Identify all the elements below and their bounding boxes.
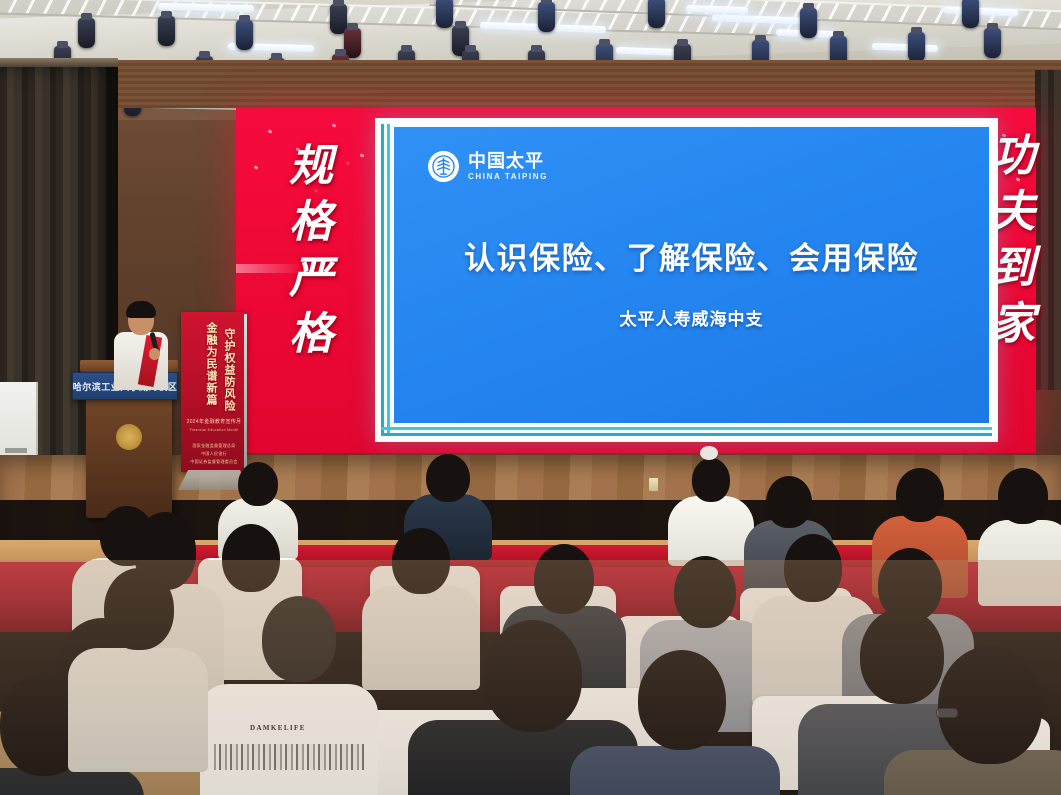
head (896, 468, 944, 522)
head (534, 544, 594, 614)
rollup-sub-2: Financial Education Month (181, 428, 247, 432)
slide-teal-stripe (381, 433, 992, 436)
slide-teal-stripe (381, 124, 384, 436)
head (860, 608, 944, 704)
head (392, 528, 450, 594)
brand-name-cn: 中国太平 (468, 152, 548, 170)
torso (570, 746, 780, 795)
rollup-sub-1: 2024年金融教育宣传月 (181, 418, 247, 425)
torso (668, 496, 754, 566)
audience: DAMKELIFE (0, 440, 1061, 795)
stage-spotlight-icon (158, 16, 175, 46)
head (784, 534, 842, 602)
stage-spotlight-icon (78, 18, 95, 48)
brand-wordmark: 中国太平 CHINA TAIPING (468, 152, 548, 181)
slide-teal-stripe (387, 124, 390, 436)
wall-wood-panel (0, 60, 1061, 108)
head (222, 524, 280, 592)
tshirt-graphic-band (214, 744, 364, 770)
curtain-rod (0, 58, 118, 67)
head (766, 476, 812, 528)
head (426, 454, 470, 502)
slide-teal-stripe (381, 427, 992, 430)
eyeglasses-icon (936, 708, 958, 718)
presentation-slide: 中国太平 CHINA TAIPING 认识保险、了解保险、会用保险 太平人寿威海… (375, 118, 998, 442)
stage-spotlight-icon (962, 0, 979, 28)
torso (978, 520, 1061, 606)
rollup-line-right: 守护权益防风险 (221, 328, 237, 412)
head (484, 620, 582, 732)
head (998, 468, 1048, 524)
head (674, 556, 736, 628)
stage-spotlight-icon (984, 28, 1001, 58)
auditorium-photo: 规格严格 功夫到家 (0, 0, 1061, 795)
stage-spotlight-icon (236, 20, 253, 50)
brand-name-en: CHINA TAIPING (468, 173, 548, 181)
china-taiping-logo: 中国太平 CHINA TAIPING (428, 151, 548, 182)
torso (68, 648, 208, 772)
rollup-line-left: 金融为民谱新篇 (203, 322, 219, 406)
slide-subtitle: 太平人寿威海中支 (394, 305, 989, 330)
torso (362, 586, 480, 690)
head (692, 458, 730, 502)
tshirt-graphic-text: DAMKELIFE (250, 724, 306, 732)
backdrop-motto-left: 规格严格 (274, 142, 338, 366)
head (638, 650, 726, 750)
speaker-presenter (112, 304, 170, 386)
fluorescent-tube-icon (872, 43, 938, 53)
slide-title: 认识保险、了解保险、会用保险 (394, 233, 989, 278)
head (238, 462, 278, 506)
stage-spotlight-icon (538, 2, 555, 32)
stage-spotlight-icon (436, 0, 453, 28)
stage-spotlight-icon (648, 0, 665, 28)
head (262, 596, 336, 682)
stage-spotlight-icon (908, 32, 925, 62)
head (938, 646, 1042, 764)
slide-content: 中国太平 CHINA TAIPING 认识保险、了解保险、会用保险 太平人寿威海… (394, 127, 989, 423)
speaker-hand (149, 348, 160, 360)
speaker-hair (126, 301, 156, 318)
pine-tree-circle-icon (428, 151, 459, 182)
torso (198, 684, 378, 795)
head (104, 568, 174, 650)
hair-bun (700, 446, 718, 460)
stage-spotlight-icon (800, 8, 817, 38)
torso (0, 768, 144, 795)
